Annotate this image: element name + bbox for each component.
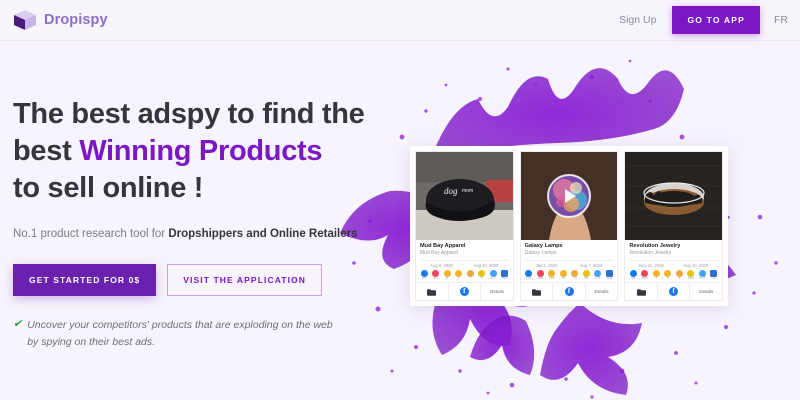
get-started-button[interactable]: GET STARTED FOR 0$ [13,264,156,296]
brand-name: Dropispy [44,12,108,28]
reaction-count: x03 [700,277,706,281]
reaction-count: 17k [595,277,601,281]
details-label: Details [595,289,609,294]
card-title: Galaxy Lamps [525,243,614,250]
reaction-love: 166 [535,270,545,281]
card-footer: f Details [416,282,513,300]
reaction-love: 16 [431,270,441,281]
subtitle-prefix: No.1 product research tool for [13,228,168,240]
card-body: Revolution Jewelry Revolution Jewelry No… [625,240,722,268]
product-card[interactable]: dog mom Mud Bay Apparel Mud Bay Apparel … [415,151,514,301]
card-reactions: 66 16 11 1 7 3 x27 x93 [416,268,513,282]
brand-logo[interactable]: Dropispy [13,9,108,32]
reaction-count: 16 [434,277,438,281]
save-to-folder-button[interactable] [416,283,448,300]
cube-logo-icon [13,9,37,32]
headline-line-2-prefix: best [13,135,79,167]
folder-icon [532,283,541,301]
hero-subtitle: No.1 product research tool for Dropshipp… [13,225,358,244]
facebook-icon: f [565,287,574,296]
reaction-count: 66 [422,277,426,281]
reaction-count: 160 [688,277,694,281]
headline-line-1: The best adspy to find the [13,98,365,130]
reaction-sad: 70 [570,270,580,281]
svg-text:dog: dog [444,186,458,196]
card-media[interactable] [625,152,722,240]
reaction-count: 11 [445,277,449,281]
card-footer: f Details [625,282,722,300]
svg-text:mom: mom [462,188,473,194]
cta-button-row: GET STARTED FOR 0$ VISIT THE APPLICATION [13,264,383,296]
hero-copy: The best adspy to find the best Winning … [13,96,383,350]
reaction-wow: 0 [663,270,673,281]
save-to-folder-button[interactable] [625,283,657,300]
card-date-range: Aug 6, 2020 Aug 10, 2020 [420,260,509,268]
reaction-angry: 160 [686,270,696,281]
reaction-like: 66 [419,270,429,281]
headline-highlight: Winning Products [79,135,322,167]
reaction-sad: 8 [674,270,684,281]
facebook-link[interactable]: f [657,283,690,300]
reaction-count: 0 [667,277,669,281]
card-title: Mud Bay Apparel [420,243,509,250]
reaction-haha: 1ek [547,270,557,281]
folder-icon [427,283,436,301]
card-date-range: Nov 11, 2019 Aug 10, 2020 [629,260,718,268]
green-check-icon: ✔ [13,317,22,333]
reaction-count: 8 [678,277,680,281]
reaction-angry: 3 [477,270,487,281]
reaction-comment: x27 [488,270,498,281]
reaction-wow: 13 [558,270,568,281]
site-header: Dropispy Sign Up GO TO APP FR [0,0,800,41]
header-nav: Sign Up GO TO APP FR [609,6,800,34]
reaction-count: 1ek [549,277,555,281]
reaction-count: 959 [642,277,648,281]
product-card[interactable]: Revolution Jewelry Revolution Jewelry No… [624,151,723,301]
reaction-like: 66 [628,270,638,281]
reaction-count: 7 [469,277,471,281]
card-reactions: 66 959 7 0 8 160 x03 16 [625,268,722,282]
facebook-icon: f [669,287,678,296]
reaction-count: 166 [537,277,543,281]
reaction-count: 13 [561,277,565,281]
reaction-count: 106 [606,277,612,281]
reaction-count: 3 [481,277,483,281]
facebook-link[interactable]: f [552,283,585,300]
product-cards-panel: dog mom Mud Bay Apparel Mud Bay Apparel … [410,146,728,306]
tagline-text: Uncover your competitors' products that … [27,317,343,350]
reaction-like: 12k [524,270,534,281]
page-title: The best adspy to find the best Winning … [13,96,383,207]
card-media[interactable] [521,152,618,240]
visit-application-button[interactable]: VISIT THE APPLICATION [167,264,322,296]
reaction-count: 70 [573,277,577,281]
details-button[interactable]: Details [585,283,618,300]
go-to-app-button[interactable]: GO TO APP [672,6,760,34]
reaction-share: x93 [500,270,510,281]
card-title: Revolution Jewelry [629,243,718,250]
reaction-count: x93 [502,277,508,281]
headline-line-3: to sell online ! [13,172,203,204]
hero-tagline: ✔ Uncover your competitors' products tha… [13,317,343,350]
card-subtitle: Galaxy Lamps [525,250,614,257]
language-switcher[interactable]: FR [766,14,800,26]
card-subtitle: Mud Bay Apparel [420,250,509,257]
reaction-love: 959 [640,270,650,281]
card-media[interactable]: dog mom [416,152,513,240]
reaction-comment: x03 [697,270,707,281]
reaction-haha: 7 [651,270,661,281]
reaction-count: x27 [490,277,496,281]
reaction-count: 56 [584,277,588,281]
reaction-haha: 11 [442,270,452,281]
card-date-range: Jan 1, 2020 Aug 7, 2020 [525,260,614,268]
sign-up-link[interactable]: Sign Up [609,14,666,26]
reaction-share: 16 [709,270,719,281]
facebook-icon: f [460,287,469,296]
details-label: Details [699,289,713,294]
card-subtitle: Revolution Jewelry [629,250,718,257]
folder-icon [637,283,646,301]
details-button[interactable]: Details [689,283,722,300]
card-reactions: 12k 166 1ek 13 70 56 17k 106 [521,268,618,282]
reaction-sad: 7 [465,270,475,281]
reaction-comment: 17k [593,270,603,281]
play-icon[interactable] [547,174,591,218]
reaction-wow: 1 [454,270,464,281]
reaction-count: 16 [712,277,716,281]
reaction-count: 12k [526,277,532,281]
details-label: Details [490,289,504,294]
reaction-count: 7 [655,277,657,281]
subtitle-emphasis: Dropshippers and Online Retailers [168,228,357,240]
landing-page: Dropispy Sign Up GO TO APP FR [0,0,800,400]
reaction-share: 106 [604,270,614,281]
card-footer: f Details [521,282,618,300]
save-to-folder-button[interactable] [521,283,553,300]
details-button[interactable]: Details [480,283,513,300]
reaction-count: 1 [458,277,460,281]
reaction-angry: 56 [581,270,591,281]
card-body: Mud Bay Apparel Mud Bay Apparel Aug 6, 2… [416,240,513,268]
card-body: Galaxy Lamps Galaxy Lamps Jan 1, 2020 Au… [521,240,618,268]
facebook-link[interactable]: f [448,283,481,300]
product-card[interactable]: Galaxy Lamps Galaxy Lamps Jan 1, 2020 Au… [520,151,619,301]
reaction-count: 66 [631,277,635,281]
